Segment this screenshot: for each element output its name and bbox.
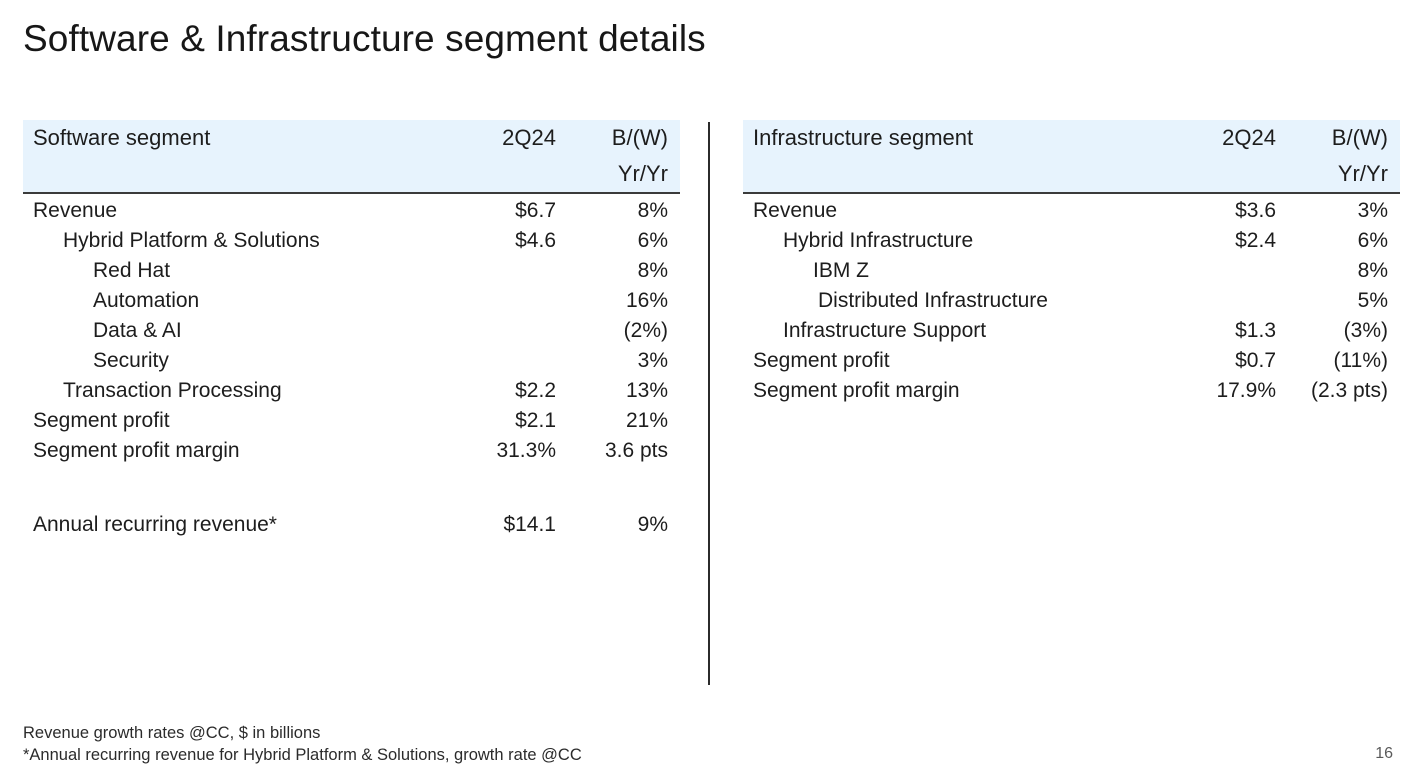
software-table-header: Software segment 2Q24 B/(W) Yr/Yr [23,120,680,192]
row-label: Transaction Processing [23,376,436,406]
row-label: IBM Z [743,256,1156,286]
row-bw-value: 3.6 pts [556,436,680,466]
row-bw-value: (2%) [556,316,680,346]
row-label: Distributed Infrastructure [743,286,1156,316]
infrastructure-segment-table: Infrastructure segment 2Q24 B/(W) Yr/Yr … [743,120,1400,406]
footnote-line-1: Revenue growth rates @CC, $ in billions [23,722,582,744]
row-label: Data & AI [23,316,436,346]
row-bw-value: 6% [1276,226,1400,256]
infrastructure-header-row-2: Yr/Yr [743,156,1400,192]
infrastructure-table-header: Infrastructure segment 2Q24 B/(W) Yr/Yr [743,120,1400,192]
table-row: Segment profit margin17.9%(2.3 pts) [743,376,1400,406]
row-value: $3.6 [1156,196,1276,226]
row-bw-value: 8% [556,256,680,286]
table-row: Hybrid Infrastructure$2.46% [743,226,1400,256]
page-number: 16 [1375,745,1393,763]
row-value: $0.7 [1156,346,1276,376]
vertical-divider [708,122,710,685]
table-row: Automation16% [23,286,680,316]
software-header-row-1: Software segment 2Q24 B/(W) [23,120,680,156]
row-bw-value: (3%) [1276,316,1400,346]
software-table-body: Revenue$6.78%Hybrid Platform & Solutions… [23,194,680,540]
row-label: Annual recurring revenue* [23,510,436,540]
infrastructure-header-bw-col-line2: Yr/Yr [1276,156,1400,192]
row-bw-value: 3% [556,346,680,376]
row-bw-value: 6% [556,226,680,256]
table-row: Transaction Processing$2.213% [23,376,680,406]
table-row: Segment profit$2.121% [23,406,680,436]
table-row: Red Hat8% [23,256,680,286]
row-label: Segment profit [743,346,1156,376]
row-bw-value: 8% [556,196,680,226]
table-row: Infrastructure Support$1.3(3%) [743,316,1400,346]
row-bw-value: 16% [556,286,680,316]
row-value: 17.9% [1156,376,1276,406]
row-bw-value: 8% [1276,256,1400,286]
row-bw-value: 5% [1276,286,1400,316]
table-row: Segment profit margin31.3%3.6 pts [23,436,680,466]
software-header-bw-col-line1: B/(W) [556,120,680,156]
software-segment-table: Software segment 2Q24 B/(W) Yr/Yr Revenu… [23,120,680,540]
row-value: $4.6 [436,226,556,256]
slide-canvas: Software & Infrastructure segment detail… [0,0,1413,771]
table-row: Hybrid Platform & Solutions$4.66% [23,226,680,256]
table-row: Security3% [23,346,680,376]
row-value: $2.4 [1156,226,1276,256]
row-value: $2.1 [436,406,556,436]
table-row: Segment profit$0.7(11%) [743,346,1400,376]
software-header-bw-col-line2: Yr/Yr [556,156,680,192]
row-bw-value: (2.3 pts) [1276,376,1400,406]
page-title: Software & Infrastructure segment detail… [23,18,706,60]
row-label: Revenue [743,196,1156,226]
infrastructure-header-value-col: 2Q24 [1156,120,1276,156]
software-header-value-col: 2Q24 [436,120,556,156]
infrastructure-header-row-1: Infrastructure segment 2Q24 B/(W) [743,120,1400,156]
row-value: $2.2 [436,376,556,406]
row-value: $14.1 [436,510,556,540]
table-row: Annual recurring revenue*$14.19% [23,510,680,540]
row-value: $1.3 [1156,316,1276,346]
table-row: Revenue$3.63% [743,196,1400,226]
software-row-spacer [23,466,680,510]
software-header-row-2: Yr/Yr [23,156,680,192]
row-value: 31.3% [436,436,556,466]
footnotes: Revenue growth rates @CC, $ in billions … [23,722,582,766]
table-row: Data & AI(2%) [23,316,680,346]
infrastructure-header-bw-col-line1: B/(W) [1276,120,1400,156]
row-label: Hybrid Infrastructure [743,226,1156,256]
row-bw-value: (11%) [1276,346,1400,376]
footnote-line-2: *Annual recurring revenue for Hybrid Pla… [23,744,582,766]
row-label: Segment profit margin [743,376,1156,406]
row-bw-value: 21% [556,406,680,436]
infrastructure-header-label: Infrastructure segment [743,120,1156,156]
row-bw-value: 9% [556,510,680,540]
software-header-label: Software segment [23,120,436,156]
row-label: Revenue [23,196,436,226]
table-row: IBM Z8% [743,256,1400,286]
row-label: Segment profit margin [23,436,436,466]
infrastructure-table-body: Revenue$3.63%Hybrid Infrastructure$2.46%… [743,194,1400,406]
row-label: Infrastructure Support [743,316,1156,346]
table-row: Revenue$6.78% [23,196,680,226]
row-label: Automation [23,286,436,316]
row-label: Red Hat [23,256,436,286]
row-label: Segment profit [23,406,436,436]
row-bw-value: 13% [556,376,680,406]
row-value: $6.7 [436,196,556,226]
row-label: Hybrid Platform & Solutions [23,226,436,256]
table-row: Distributed Infrastructure5% [743,286,1400,316]
row-bw-value: 3% [1276,196,1400,226]
row-label: Security [23,346,436,376]
